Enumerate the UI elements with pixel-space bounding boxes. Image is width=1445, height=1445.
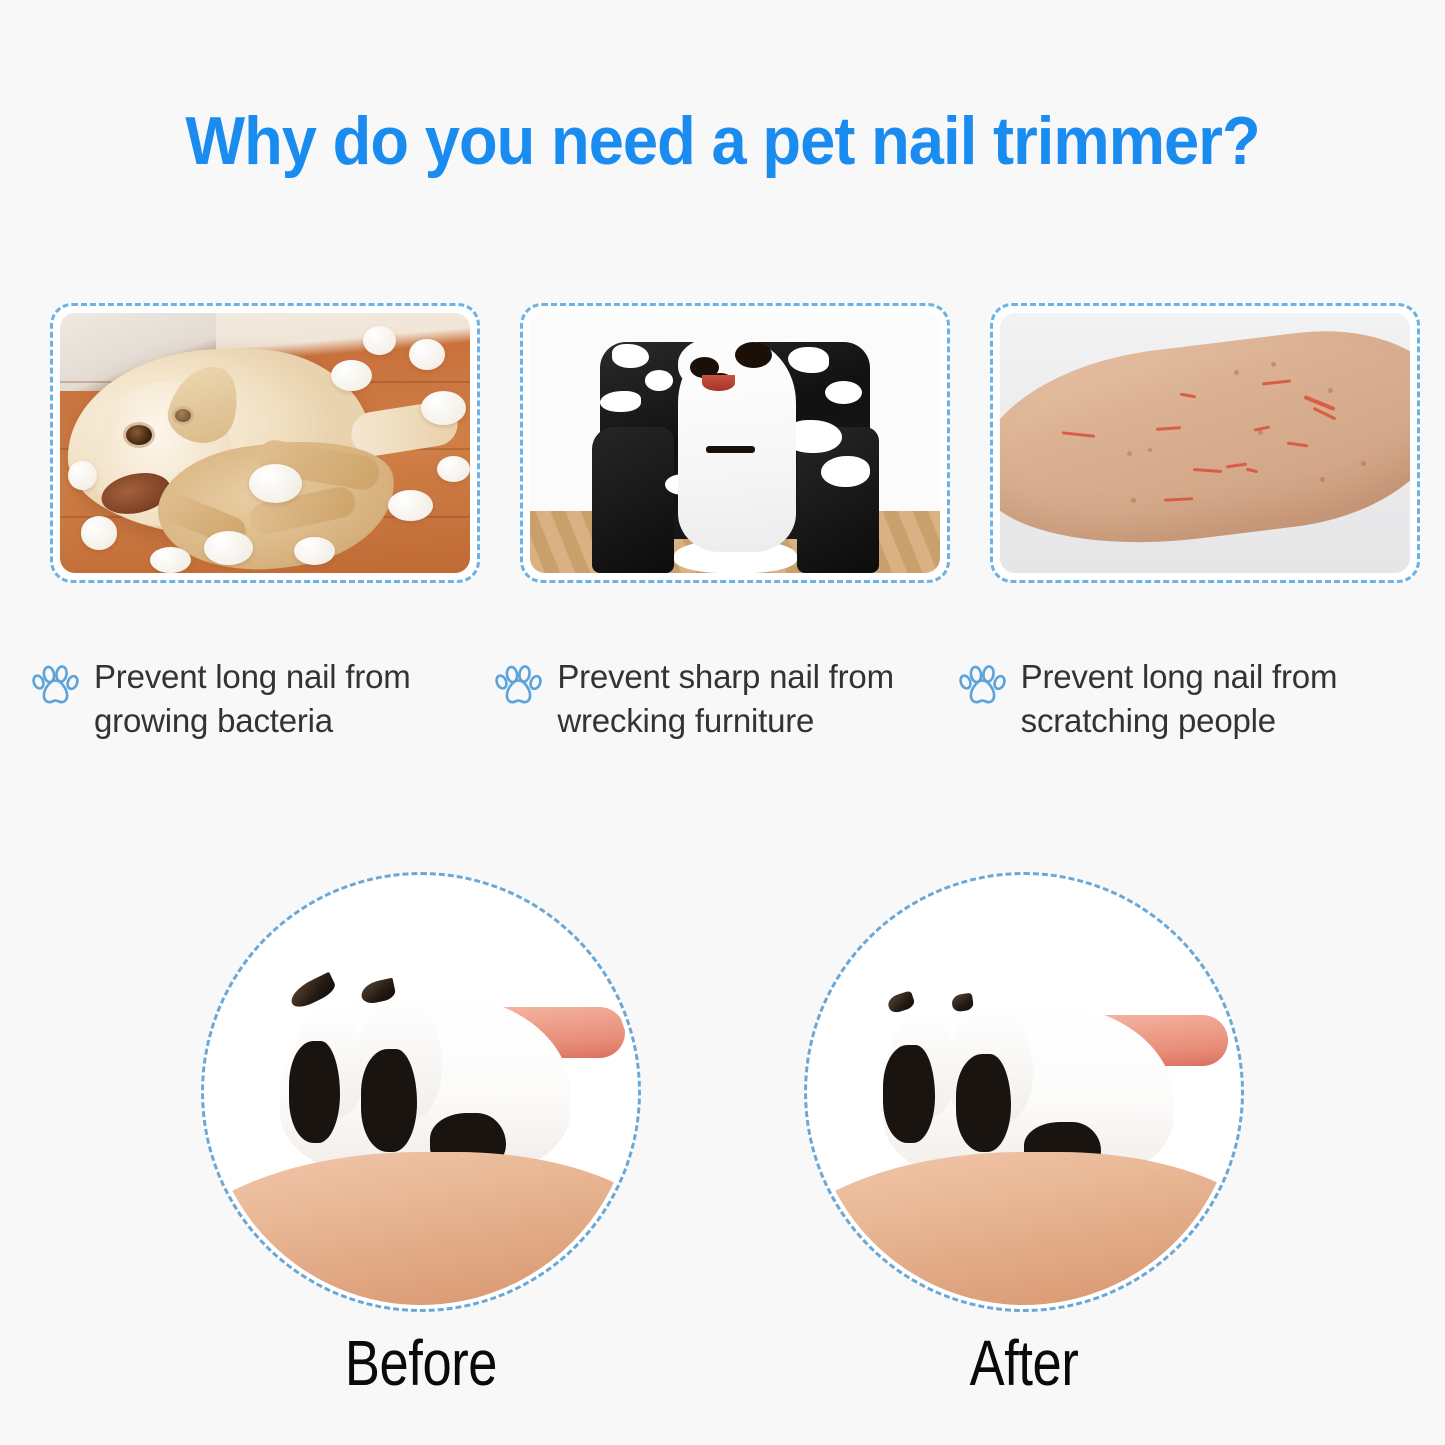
before-photo-circle	[201, 872, 641, 1312]
photo-dog-destroyed-teddy	[60, 313, 470, 573]
paw-icon	[495, 663, 543, 712]
labrador-eye	[126, 425, 152, 445]
after-photo-circle	[804, 872, 1244, 1312]
stuffing-fluff	[68, 461, 97, 490]
skin-mark	[1361, 461, 1366, 466]
after-label: After	[844, 1326, 1205, 1400]
benefit-image-card-bacteria	[50, 303, 480, 583]
stuffing-tear	[825, 381, 862, 404]
long-sharp-nail	[287, 972, 338, 1012]
stuffing-fluff	[150, 547, 191, 573]
dog-face-patch	[735, 342, 772, 368]
stuffing-tear	[821, 456, 870, 487]
stuffing-fluff	[294, 537, 335, 566]
benefit-caption-people: Prevent long nail from scratching people	[959, 655, 1422, 742]
dog-collar	[706, 446, 755, 454]
benefit-image-row	[50, 303, 1420, 583]
stuffing-fluff	[81, 516, 118, 550]
before-item: Before	[201, 872, 641, 1400]
after-item: After	[804, 872, 1244, 1400]
stuffing-fluff	[388, 490, 433, 521]
benefit-caption-row: Prevent long nail from growing bacteria …	[32, 655, 1422, 742]
skin-mark	[1148, 448, 1152, 452]
hand-crease	[814, 1298, 1200, 1305]
stuffing-fluff	[409, 339, 446, 370]
paw-dark-marking	[883, 1045, 934, 1143]
paw-dark-marking	[956, 1054, 1011, 1152]
benefit-image-card-furniture	[520, 303, 950, 583]
benefit-caption-text: Prevent long nail from growing bacteria	[94, 655, 411, 742]
photo-scratched-forearm	[1000, 313, 1410, 573]
labrador-eye	[175, 409, 191, 422]
before-label: Before	[241, 1326, 602, 1400]
benefit-caption-text: Prevent sharp nail from wrecking furnitu…	[557, 655, 894, 742]
skin-mark	[1131, 498, 1136, 503]
hand-crease	[211, 1298, 597, 1305]
skin-mark	[1234, 370, 1239, 375]
stuffing-fluff	[437, 456, 470, 482]
stuffing-tear	[788, 347, 829, 373]
stuffing-tear	[612, 344, 649, 367]
stuffing-fluff	[363, 326, 396, 355]
human-forearm	[1000, 316, 1410, 565]
paw-icon	[959, 663, 1007, 712]
skin-mark	[1320, 477, 1325, 482]
stuffing-fluff	[421, 391, 466, 425]
human-hand	[208, 1152, 634, 1305]
stuffing-fluff	[204, 531, 253, 565]
human-hand	[811, 1152, 1237, 1305]
before-after-row: Before After	[0, 872, 1445, 1400]
armchair-arm-left	[592, 427, 674, 573]
stuffing-tear	[600, 391, 641, 412]
short-trimmed-nail	[886, 990, 916, 1014]
stuffing-fluff	[249, 464, 302, 503]
benefit-caption-text: Prevent long nail from scratching people	[1021, 655, 1338, 742]
benefit-image-card-people	[990, 303, 1420, 583]
paw-dark-marking	[361, 1049, 416, 1151]
benefit-caption-furniture: Prevent sharp nail from wrecking furnitu…	[495, 655, 958, 742]
paw-icon	[32, 663, 80, 712]
skin-mark	[1127, 451, 1132, 456]
photo-paw-long-nails	[208, 879, 634, 1305]
dog-tongue	[702, 375, 735, 391]
photo-paw-trimmed-nails	[811, 879, 1237, 1305]
stuffing-fluff	[331, 360, 372, 391]
photo-dog-shredded-armchair	[530, 313, 940, 573]
page-title: Why do you need a pet nail trimmer?	[51, 102, 1395, 180]
benefit-caption-bacteria: Prevent long nail from growing bacteria	[32, 655, 495, 742]
paw-dark-marking	[289, 1041, 340, 1143]
